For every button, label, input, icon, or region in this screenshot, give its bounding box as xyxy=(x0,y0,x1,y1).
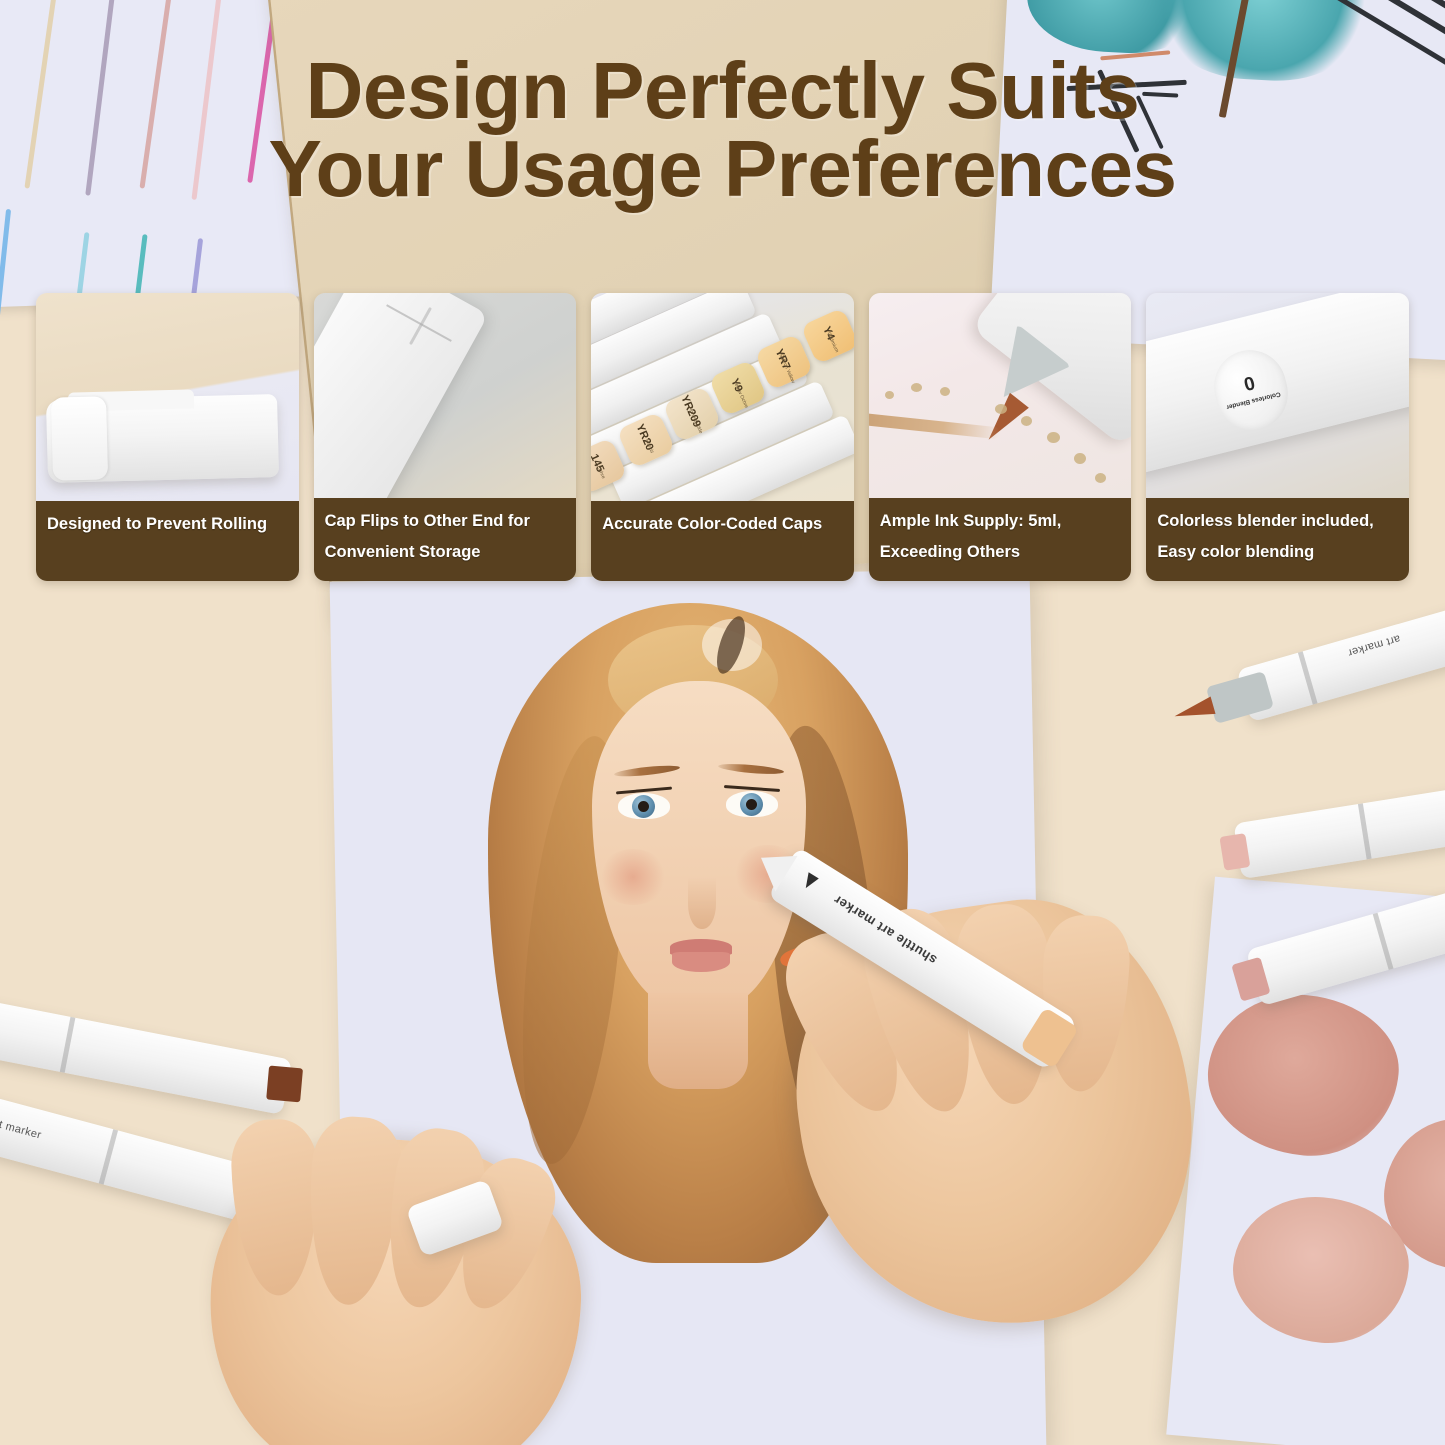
eye-right xyxy=(726,791,778,817)
thumb-color-coded-caps: 145 Ochre YR20 Marzis YR209 Honeysuckle … xyxy=(591,293,854,501)
loose-marker-brand-text-right: art marker xyxy=(1346,632,1401,658)
loose-marker-brand-text: art marker xyxy=(0,1116,43,1142)
feature-caption-4: Ample Ink Supply: 5ml, Exceeding Others xyxy=(869,498,1132,581)
feature-card-ample-ink[interactable]: Ample Ink Supply: 5ml, Exceeding Others xyxy=(869,293,1132,581)
feature-card-prevent-rolling[interactable]: Designed to Prevent Rolling xyxy=(36,293,299,581)
chisel-nib xyxy=(266,1066,303,1103)
nose xyxy=(688,877,716,929)
thumb-colorless-blender: 0 Colorless Blender xyxy=(1146,293,1409,498)
marker-cap xyxy=(51,396,108,481)
neck xyxy=(648,993,748,1089)
feature-caption-5: Colorless blender included, Easy color b… xyxy=(1146,498,1409,581)
feature-card-colorless-blender[interactable]: 0 Colorless Blender Colorless blender in… xyxy=(1146,293,1409,581)
marker-barrel-diagonal xyxy=(314,293,488,498)
feature-caption-1: Designed to Prevent Rolling xyxy=(36,501,299,581)
feature-card-strip: Designed to Prevent Rolling Cap Flips to… xyxy=(36,293,1409,581)
feature-card-cap-flips[interactable]: Cap Flips to Other End for Convenient St… xyxy=(314,293,577,581)
title-line-1: Design Perfectly Suits xyxy=(306,46,1140,135)
eye-left xyxy=(618,793,670,819)
thumb-prevent-rolling xyxy=(36,293,299,501)
feature-caption-2: Cap Flips to Other End for Convenient St… xyxy=(314,498,577,581)
title-line-2: Your Usage Preferences xyxy=(0,130,1445,208)
ink-stroke xyxy=(869,412,1001,439)
product-feature-image: Design Perfectly Suits Your Usage Prefer… xyxy=(0,0,1445,1445)
nib-triangle-icon xyxy=(801,872,819,891)
feature-card-color-coded-caps[interactable]: 145 Ochre YR20 Marzis YR209 Honeysuckle … xyxy=(591,293,854,581)
lip-lower xyxy=(672,952,730,972)
marker-nib-pale xyxy=(1219,833,1250,871)
page-title: Design Perfectly Suits Your Usage Prefer… xyxy=(0,52,1445,209)
thumb-ample-ink xyxy=(869,293,1132,498)
thumb-cap-flips xyxy=(314,293,577,498)
eyebrow-left xyxy=(614,764,680,779)
blender-symbol: 0 xyxy=(1242,375,1257,396)
feature-caption-3: Accurate Color-Coded Caps xyxy=(591,501,854,581)
left-hand xyxy=(199,1128,592,1445)
eyebrow-right xyxy=(718,762,784,776)
marker-cap-y4: Y4 Cadmium xyxy=(801,307,854,364)
